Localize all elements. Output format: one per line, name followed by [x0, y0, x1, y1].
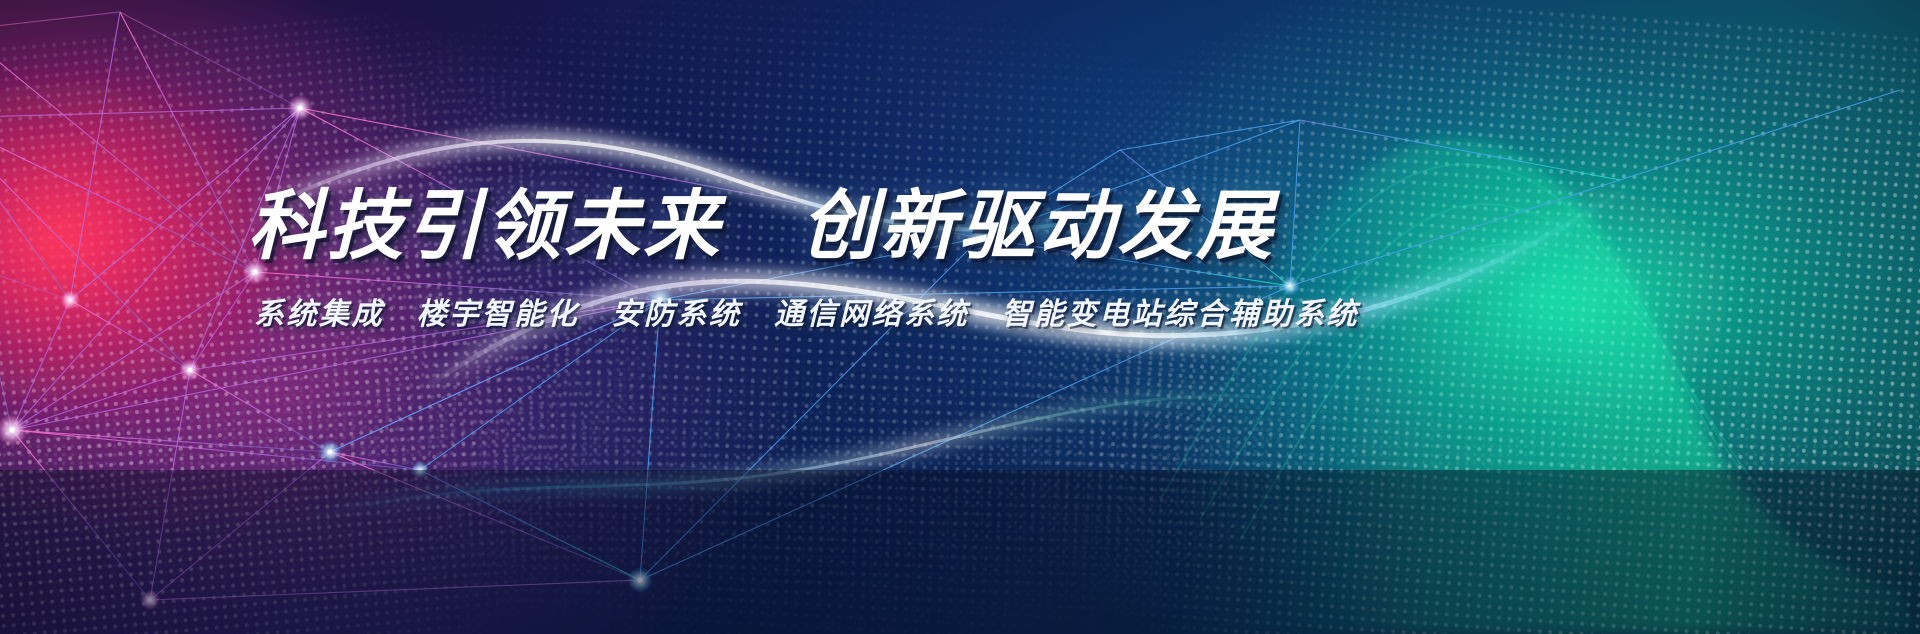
banner-subtitle: 系统集成 楼宇智能化 安防系统 通信网络系统 智能变电站综合辅助系统	[254, 289, 1368, 333]
tech-hero-banner: 科技引领未来 创新驱动发展 系统集成 楼宇智能化 安防系统 通信网络系统 智能变…	[0, 0, 1920, 634]
bottom-vignette	[0, 470, 1920, 634]
page-title: 科技引领未来 创新驱动发展	[248, 186, 1368, 267]
banner-copy-block: 科技引领未来 创新驱动发展 系统集成 楼宇智能化 安防系统 通信网络系统 智能变…	[248, 186, 1368, 333]
